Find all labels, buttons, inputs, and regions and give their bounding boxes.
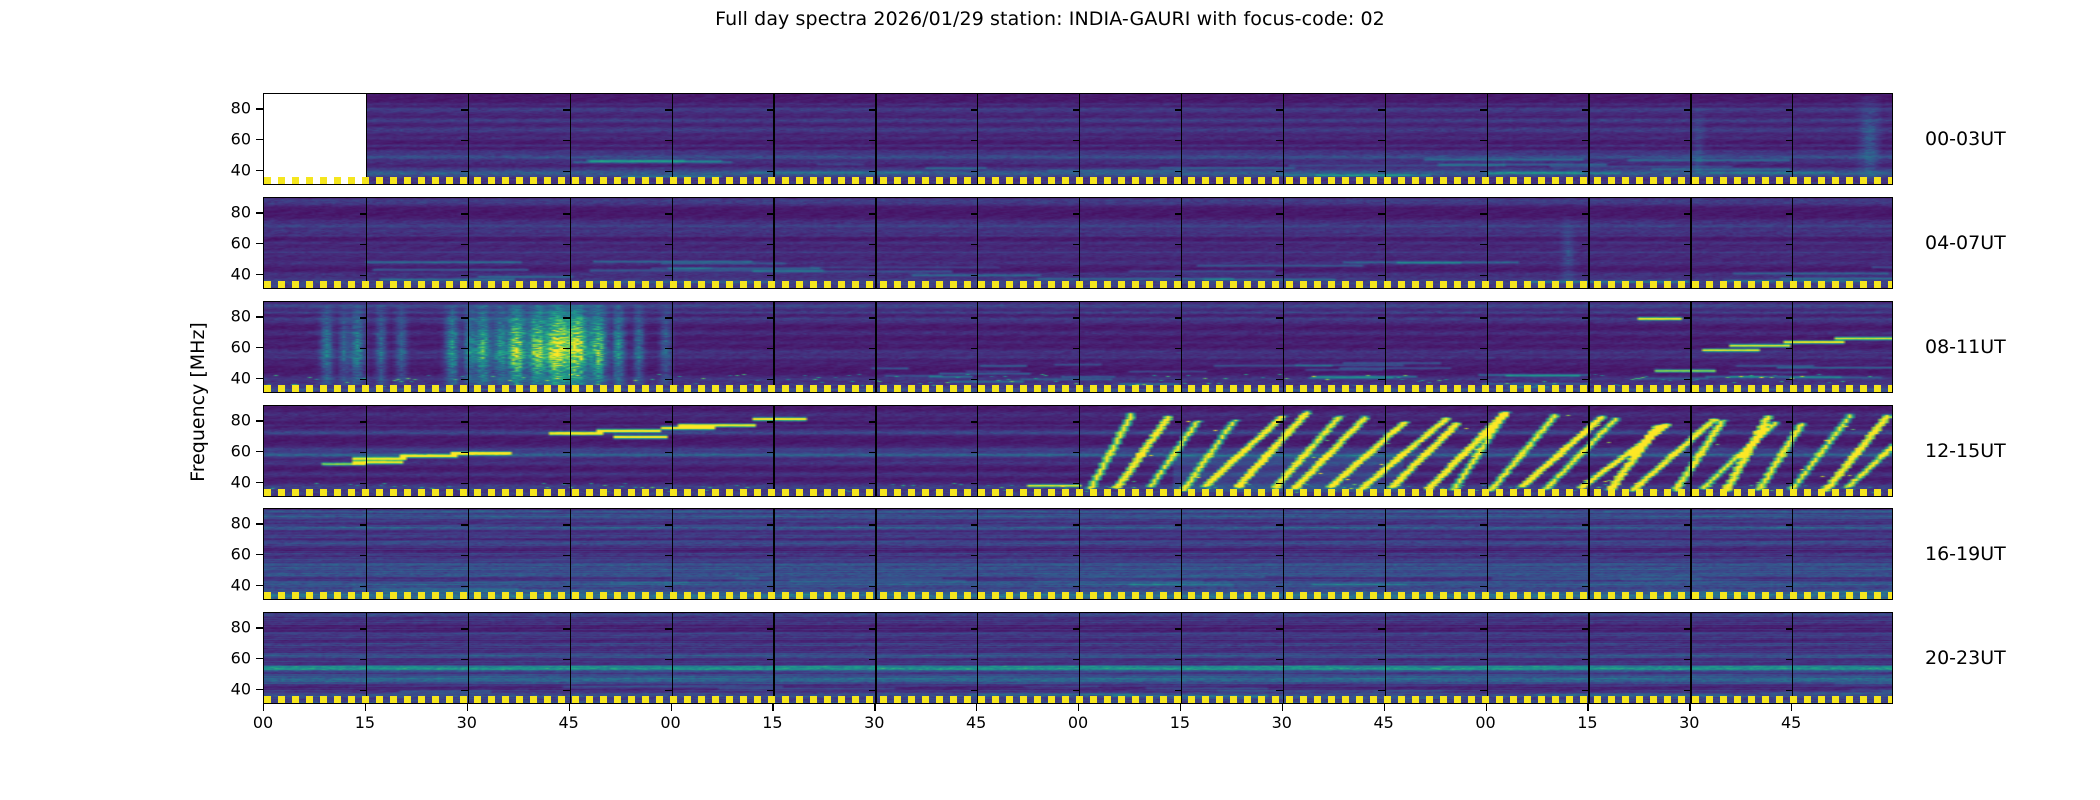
frequency-tick-mark: [665, 275, 672, 276]
y-tick-group: 806040: [218, 612, 263, 704]
frequency-tick-mark: [767, 628, 774, 629]
frequency-tick-mark: [869, 171, 876, 172]
frequency-tick-mark: [1378, 140, 1385, 141]
panel-axes: [263, 301, 1893, 393]
y-tick-mark: [256, 482, 263, 483]
row-label-16-19ut: 16-19UT: [1925, 543, 2006, 565]
frequency-tick-mark: [1175, 379, 1182, 380]
status-strip: [264, 696, 1892, 703]
frequency-tick-mark: [1276, 109, 1283, 110]
frequency-tick-mark: [1786, 213, 1793, 214]
frequency-tick-mark: [1073, 275, 1080, 276]
frequency-tick-mark: [665, 659, 672, 660]
y-tick-mark: [256, 585, 263, 586]
x-tick-label: 45: [1781, 713, 1801, 732]
frequency-tick-mark: [1582, 690, 1589, 691]
frequency-tick-mark: [1175, 244, 1182, 245]
row-label-20-23ut: 20-23UT: [1925, 647, 2006, 669]
frequency-tick-mark: [1378, 171, 1385, 172]
y-tick-group: 806040: [218, 93, 263, 185]
frequency-tick-mark: [1582, 555, 1589, 556]
frequency-tick-mark: [869, 524, 876, 525]
y-tick-label: 60: [231, 338, 251, 357]
frequency-tick-mark: [563, 140, 570, 141]
frequency-tick-mark: [1073, 628, 1080, 629]
frequency-tick-mark: [767, 348, 774, 349]
missing-data-block: [264, 94, 367, 184]
x-tick-label: 45: [558, 713, 578, 732]
frequency-tick-mark: [563, 524, 570, 525]
frequency-tick-mark: [1073, 109, 1080, 110]
frequency-tick-mark: [1073, 586, 1080, 587]
frequency-tick-mark: [1684, 379, 1691, 380]
frequency-tick-mark: [1276, 586, 1283, 587]
spectrogram-panel-12-15ut[interactable]: [263, 405, 1893, 497]
x-tick-mark: [1384, 704, 1385, 711]
panel-axes: [263, 612, 1893, 704]
frequency-tick-mark: [869, 483, 876, 484]
frequency-tick-mark: [563, 483, 570, 484]
frequency-tick-mark: [1480, 140, 1487, 141]
frequency-tick-mark: [1175, 452, 1182, 453]
frequency-tick-mark: [1582, 586, 1589, 587]
frequency-tick-mark: [665, 452, 672, 453]
frequency-tick-mark: [1073, 659, 1080, 660]
frequency-tick-mark: [360, 452, 367, 453]
frequency-tick-mark: [1175, 628, 1182, 629]
frequency-tick-mark: [1073, 379, 1080, 380]
frequency-tick-mark: [1175, 690, 1182, 691]
frequency-tick-mark: [1480, 244, 1487, 245]
frequency-tick-mark: [1684, 109, 1691, 110]
frequency-tick-mark: [665, 171, 672, 172]
frequency-tick-mark: [1786, 140, 1793, 141]
frequency-tick-mark: [1378, 379, 1385, 380]
x-tick-label: 15: [1577, 713, 1597, 732]
frequency-tick-mark: [665, 244, 672, 245]
frequency-tick-mark: [971, 483, 978, 484]
frequency-tick-mark: [1786, 555, 1793, 556]
frequency-tick-mark: [1582, 213, 1589, 214]
frequency-tick-mark: [1276, 628, 1283, 629]
frequency-tick-mark: [869, 421, 876, 422]
frequency-tick-mark: [1276, 555, 1283, 556]
frequency-tick-mark: [461, 109, 468, 110]
frequency-tick-mark: [869, 659, 876, 660]
frequency-tick-mark: [1480, 213, 1487, 214]
frequency-tick-mark: [1480, 659, 1487, 660]
frequency-tick-mark: [360, 379, 367, 380]
frequency-tick-mark: [1276, 348, 1283, 349]
y-tick-label: 40: [231, 679, 251, 698]
status-strip: [264, 177, 1892, 184]
frequency-tick-mark: [1378, 213, 1385, 214]
frequency-tick-mark: [1684, 586, 1691, 587]
frequency-tick-mark: [767, 555, 774, 556]
frequency-tick-mark: [1480, 317, 1487, 318]
frequency-tick-mark: [563, 690, 570, 691]
frequency-tick-mark: [1786, 317, 1793, 318]
frequency-tick-mark: [461, 317, 468, 318]
frequency-tick-mark: [971, 555, 978, 556]
frequency-tick-mark: [869, 690, 876, 691]
y-tick-group: 806040: [218, 405, 263, 497]
row-label-00-03ut: 00-03UT: [1925, 128, 2006, 150]
frequency-tick-mark: [1378, 421, 1385, 422]
frequency-tick-mark: [563, 659, 570, 660]
frequency-tick-mark: [971, 659, 978, 660]
frequency-tick-mark: [1073, 140, 1080, 141]
frequency-tick-mark: [360, 244, 367, 245]
frequency-tick-mark: [461, 421, 468, 422]
frequency-tick-mark: [665, 483, 672, 484]
frequency-tick-mark: [665, 524, 672, 525]
frequency-tick-mark: [461, 213, 468, 214]
frequency-tick-mark: [1480, 628, 1487, 629]
status-strip: [264, 489, 1892, 496]
frequency-tick-mark: [665, 109, 672, 110]
frequency-tick-mark: [665, 586, 672, 587]
frequency-tick-mark: [461, 524, 468, 525]
frequency-tick-mark: [461, 659, 468, 660]
frequency-tick-mark: [360, 421, 367, 422]
frequency-tick-mark: [461, 452, 468, 453]
frequency-tick-mark: [1073, 213, 1080, 214]
frequency-tick-mark: [1786, 275, 1793, 276]
frequency-tick-mark: [1786, 586, 1793, 587]
frequency-tick-mark: [971, 586, 978, 587]
frequency-tick-mark: [461, 348, 468, 349]
frequency-tick-mark: [1073, 421, 1080, 422]
frequency-tick-mark: [869, 348, 876, 349]
frequency-tick-mark: [360, 659, 367, 660]
frequency-tick-mark: [869, 586, 876, 587]
frequency-tick-mark: [1175, 555, 1182, 556]
frequency-tick-mark: [1175, 524, 1182, 525]
frequency-tick-mark: [1480, 275, 1487, 276]
frequency-tick-mark: [1684, 213, 1691, 214]
status-strip: [264, 592, 1892, 599]
frequency-tick-mark: [1480, 483, 1487, 484]
y-tick-group: 806040: [218, 301, 263, 393]
frequency-tick-mark: [767, 421, 774, 422]
frequency-tick-mark: [1480, 421, 1487, 422]
frequency-tick-mark: [563, 628, 570, 629]
frequency-tick-mark: [1073, 317, 1080, 318]
frequency-tick-mark: [1480, 348, 1487, 349]
frequency-tick-mark: [869, 628, 876, 629]
frequency-tick-mark: [360, 628, 367, 629]
frequency-tick-mark: [767, 140, 774, 141]
frequency-tick-mark: [360, 483, 367, 484]
x-tick-label: 45: [1373, 713, 1393, 732]
y-tick-mark: [256, 554, 263, 555]
frequency-tick-mark: [767, 452, 774, 453]
frequency-tick-mark: [1276, 275, 1283, 276]
x-tick-label: 00: [253, 713, 273, 732]
frequency-tick-mark: [461, 244, 468, 245]
frequency-tick-mark: [1684, 628, 1691, 629]
x-tick-mark: [1282, 704, 1283, 711]
frequency-tick-mark: [767, 213, 774, 214]
frequency-tick-mark: [971, 690, 978, 691]
frequency-tick-mark: [1786, 690, 1793, 691]
row-label-12-15ut: 12-15UT: [1925, 440, 2006, 462]
frequency-tick-mark: [971, 348, 978, 349]
x-tick-label: 00: [1475, 713, 1495, 732]
frequency-tick-mark: [665, 317, 672, 318]
y-tick-mark: [256, 627, 263, 628]
frequency-tick-mark: [1684, 555, 1691, 556]
x-tick-label: 15: [1170, 713, 1190, 732]
frequency-tick-mark: [1684, 421, 1691, 422]
frequency-tick-mark: [869, 213, 876, 214]
y-tick-label: 60: [231, 442, 251, 461]
y-tick-mark: [256, 658, 263, 659]
frequency-tick-mark: [1582, 379, 1589, 380]
frequency-tick-mark: [1378, 109, 1385, 110]
frequency-tick-mark: [1582, 109, 1589, 110]
frequency-tick-mark: [1786, 379, 1793, 380]
frequency-tick-mark: [1276, 421, 1283, 422]
x-tick-mark: [1486, 704, 1487, 711]
frequency-tick-mark: [1480, 524, 1487, 525]
y-tick-label: 80: [231, 307, 251, 326]
frequency-tick-mark: [360, 213, 367, 214]
frequency-tick-mark: [1175, 213, 1182, 214]
frequency-tick-mark: [1073, 244, 1080, 245]
frequency-tick-mark: [563, 586, 570, 587]
frequency-tick-mark: [1786, 348, 1793, 349]
frequency-tick-mark: [971, 379, 978, 380]
frequency-tick-mark: [1276, 659, 1283, 660]
frequency-tick-mark: [461, 555, 468, 556]
frequency-tick-mark: [360, 524, 367, 525]
y-tick-mark: [256, 316, 263, 317]
spectrogram-panel-08-11ut[interactable]: [263, 301, 1893, 393]
row-label-04-07ut: 04-07UT: [1925, 232, 2006, 254]
frequency-tick-mark: [1684, 244, 1691, 245]
frequency-tick-mark: [767, 586, 774, 587]
y-tick-label: 40: [231, 368, 251, 387]
frequency-tick-mark: [563, 317, 570, 318]
frequency-tick-mark: [1684, 171, 1691, 172]
frequency-tick-mark: [1175, 317, 1182, 318]
frequency-tick-mark: [1684, 348, 1691, 349]
frequency-tick-mark: [461, 275, 468, 276]
frequency-tick-mark: [1175, 348, 1182, 349]
frequency-tick-mark: [665, 555, 672, 556]
frequency-tick-mark: [1684, 140, 1691, 141]
y-tick-mark: [256, 108, 263, 109]
frequency-tick-mark: [971, 275, 978, 276]
x-tick-label: 15: [762, 713, 782, 732]
status-strip: [264, 281, 1892, 288]
y-tick-label: 40: [231, 264, 251, 283]
frequency-tick-mark: [1582, 452, 1589, 453]
frequency-tick-mark: [1378, 317, 1385, 318]
row-label-08-11ut: 08-11UT: [1925, 336, 2006, 358]
frequency-tick-mark: [869, 317, 876, 318]
frequency-tick-mark: [767, 109, 774, 110]
frequency-tick-mark: [971, 244, 978, 245]
y-tick-mark: [256, 274, 263, 275]
frequency-tick-mark: [869, 555, 876, 556]
frequency-tick-mark: [1175, 586, 1182, 587]
frequency-tick-mark: [1378, 244, 1385, 245]
panel-axes: [263, 93, 1893, 185]
frequency-tick-mark: [1582, 659, 1589, 660]
frequency-tick-mark: [360, 348, 367, 349]
y-tick-label: 80: [231, 618, 251, 637]
frequency-tick-mark: [767, 524, 774, 525]
frequency-tick-mark: [1175, 171, 1182, 172]
frequency-tick-mark: [1480, 586, 1487, 587]
frequency-tick-mark: [665, 379, 672, 380]
frequency-tick-mark: [1175, 483, 1182, 484]
spectrogram-panel-16-19ut[interactable]: [263, 508, 1893, 600]
frequency-tick-mark: [869, 452, 876, 453]
frequency-tick-mark: [1276, 244, 1283, 245]
x-tick-mark: [263, 704, 264, 711]
frequency-tick-mark: [563, 109, 570, 110]
frequency-tick-mark: [1582, 317, 1589, 318]
y-tick-mark: [256, 243, 263, 244]
frequency-tick-mark: [971, 421, 978, 422]
frequency-tick-mark: [971, 317, 978, 318]
frequency-tick-mark: [1073, 524, 1080, 525]
x-tick-mark: [1689, 704, 1690, 711]
frequency-tick-mark: [1073, 171, 1080, 172]
frequency-tick-mark: [1378, 690, 1385, 691]
frequency-tick-mark: [461, 690, 468, 691]
x-tick-mark: [1078, 704, 1079, 711]
frequency-tick-mark: [1582, 275, 1589, 276]
frequency-tick-mark: [1480, 452, 1487, 453]
frequency-tick-mark: [1786, 421, 1793, 422]
y-tick-label: 60: [231, 649, 251, 668]
frequency-tick-mark: [1786, 452, 1793, 453]
frequency-tick-mark: [1073, 690, 1080, 691]
frequency-tick-mark: [1073, 348, 1080, 349]
frequency-tick-mark: [1378, 452, 1385, 453]
y-tick-label: 60: [231, 545, 251, 564]
frequency-tick-mark: [665, 140, 672, 141]
frequency-tick-mark: [1378, 628, 1385, 629]
y-tick-mark: [256, 347, 263, 348]
frequency-tick-mark: [767, 379, 774, 380]
frequency-tick-mark: [665, 628, 672, 629]
frequency-tick-mark: [1786, 659, 1793, 660]
x-tick-label: 00: [1068, 713, 1088, 732]
frequency-tick-mark: [1175, 659, 1182, 660]
x-tick-label: 15: [355, 713, 375, 732]
panel-axes: [263, 197, 1893, 289]
frequency-tick-mark: [971, 524, 978, 525]
frequency-tick-mark: [461, 483, 468, 484]
frequency-tick-mark: [971, 213, 978, 214]
frequency-tick-mark: [1582, 140, 1589, 141]
frequency-tick-mark: [1378, 586, 1385, 587]
frequency-tick-mark: [1276, 171, 1283, 172]
frequency-tick-mark: [461, 140, 468, 141]
x-axis: 00153045001530450015304500153045: [263, 704, 1893, 744]
frequency-tick-mark: [971, 171, 978, 172]
y-tick-label: 80: [231, 99, 251, 118]
frequency-tick-mark: [360, 690, 367, 691]
frequency-tick-mark: [1786, 171, 1793, 172]
y-tick-label: 40: [231, 160, 251, 179]
frequency-tick-mark: [1582, 171, 1589, 172]
frequency-tick-mark: [360, 317, 367, 318]
frequency-tick-mark: [869, 244, 876, 245]
frequency-tick-mark: [1378, 275, 1385, 276]
x-tick-mark: [365, 704, 366, 711]
frequency-tick-mark: [1276, 690, 1283, 691]
frequency-tick-mark: [869, 275, 876, 276]
x-tick-label: 00: [660, 713, 680, 732]
frequency-tick-mark: [767, 690, 774, 691]
x-tick-mark: [467, 704, 468, 711]
frequency-tick-mark: [1378, 524, 1385, 525]
frequency-tick-mark: [1480, 555, 1487, 556]
frequency-tick-mark: [971, 140, 978, 141]
frequency-tick-mark: [1684, 452, 1691, 453]
frequency-tick-mark: [1175, 421, 1182, 422]
frequency-tick-mark: [767, 659, 774, 660]
frequency-tick-mark: [563, 421, 570, 422]
frequency-tick-mark: [1378, 555, 1385, 556]
panel-axes: [263, 508, 1893, 600]
frequency-tick-mark: [1786, 109, 1793, 110]
frequency-tick-mark: [563, 171, 570, 172]
frequency-tick-mark: [1276, 213, 1283, 214]
frequency-tick-mark: [1276, 317, 1283, 318]
frequency-tick-mark: [869, 109, 876, 110]
frequency-tick-mark: [665, 213, 672, 214]
spectrogram-panel-20-23ut[interactable]: [263, 612, 1893, 704]
x-tick-label: 45: [966, 713, 986, 732]
spectrogram-panel-00-03ut[interactable]: [263, 93, 1893, 185]
frequency-tick-mark: [1276, 483, 1283, 484]
frequency-tick-mark: [869, 140, 876, 141]
y-tick-label: 40: [231, 575, 251, 594]
spectrogram-panel-04-07ut[interactable]: [263, 197, 1893, 289]
x-tick-mark: [772, 704, 773, 711]
frequency-tick-mark: [665, 421, 672, 422]
x-tick-label: 30: [864, 713, 884, 732]
frequency-tick-mark: [563, 379, 570, 380]
frequency-tick-mark: [971, 628, 978, 629]
frequency-tick-mark: [767, 317, 774, 318]
frequency-tick-mark: [1175, 275, 1182, 276]
y-tick-label: 80: [231, 203, 251, 222]
y-tick-group: 806040: [218, 197, 263, 289]
frequency-tick-mark: [1684, 317, 1691, 318]
frequency-tick-mark: [767, 275, 774, 276]
frequency-tick-mark: [1480, 171, 1487, 172]
frequency-tick-mark: [767, 171, 774, 172]
y-tick-group: 806040: [218, 508, 263, 600]
frequency-tick-mark: [563, 213, 570, 214]
x-tick-mark: [1791, 704, 1792, 711]
frequency-tick-mark: [1684, 483, 1691, 484]
frequency-tick-mark: [1786, 628, 1793, 629]
x-tick-mark: [874, 704, 875, 711]
frequency-tick-mark: [1175, 140, 1182, 141]
spectrogram-figure: Full day spectra 2026/01/29 station: IND…: [0, 0, 2100, 800]
y-tick-label: 60: [231, 234, 251, 253]
